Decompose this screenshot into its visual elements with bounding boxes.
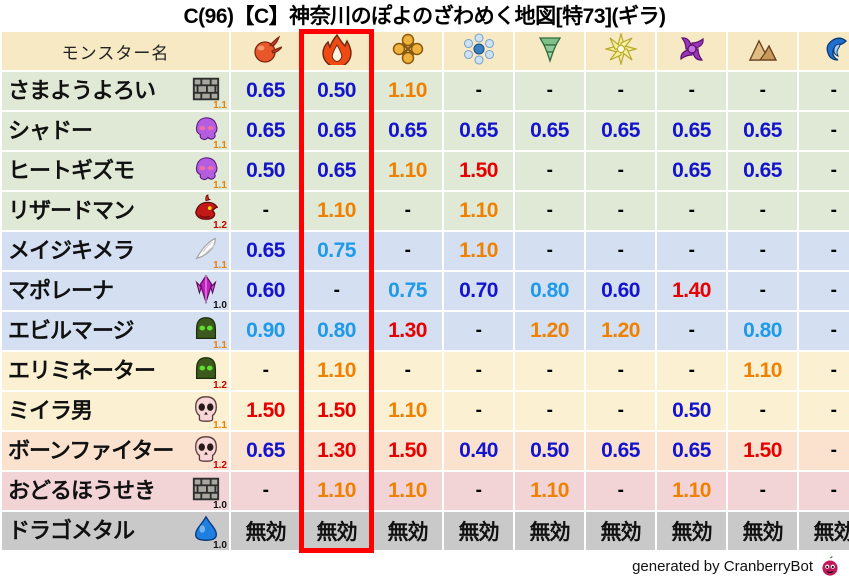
resistance-cell: - — [586, 72, 655, 110]
resistance-cell: - — [444, 312, 513, 350]
monster-name-cell[interactable]: さまようよろい1.1 — [2, 72, 229, 110]
resistance-cell: - — [444, 352, 513, 390]
skull-icon: 1.2 — [191, 434, 225, 468]
mountain-icon — [747, 33, 779, 65]
skull-icon: 1.1 — [191, 394, 225, 428]
resistance-cell: 1.10 — [373, 472, 442, 510]
monster-name-cell[interactable]: メイジキメラ1.1 — [2, 232, 229, 270]
monster-resistance-table: モンスター名 さまようよろい1.10.650.501.10------シャドー1… — [0, 30, 849, 552]
monster-name-cell[interactable]: マポレーナ1.0 — [2, 272, 229, 310]
monster-name-cell[interactable]: エリミネーター1.2 — [2, 352, 229, 390]
table-row: エビルマージ1.10.900.801.30-1.201.20-0.80- — [2, 312, 849, 350]
resistance-cell: - — [231, 192, 300, 230]
resistance-cell: 0.50 — [231, 152, 300, 190]
resistance-cell: 1.10 — [302, 192, 371, 230]
resistance-cell: - — [799, 472, 849, 510]
footer: generated by CranberryBot — [632, 555, 841, 577]
table-row: ドラゴメタル1.0無効無効無効無効無効無効無効無効無効 — [2, 512, 849, 550]
header-element-gira[interactable] — [302, 32, 371, 70]
resistance-cell: 0.65 — [231, 232, 300, 270]
green-hood-icon: 1.2 — [191, 354, 225, 388]
monster-name: マポレーナ — [8, 280, 113, 302]
resistance-cell: 0.75 — [302, 232, 371, 270]
resistance-cell: - — [515, 72, 584, 110]
snowflake-icon — [463, 33, 495, 65]
header-element-mahotora[interactable] — [799, 32, 849, 70]
resistance-cell: 1.10 — [373, 72, 442, 110]
resistance-cell: 無効 — [515, 512, 584, 550]
resistance-cell: - — [515, 152, 584, 190]
red-dragon-icon: 1.2 — [191, 194, 225, 228]
table-body: さまようよろい1.10.650.501.10------シャドー1.10.650… — [2, 72, 849, 550]
resistance-cell: - — [586, 232, 655, 270]
resistance-cell: - — [586, 192, 655, 230]
resistance-cell: 0.80 — [728, 312, 797, 350]
resistance-cell: - — [799, 112, 849, 150]
resistance-cell: - — [586, 152, 655, 190]
resistance-cell: - — [799, 72, 849, 110]
resistance-cell: 無効 — [302, 512, 371, 550]
purple-ghost-icon: 1.1 — [191, 154, 225, 188]
table-row: リザードマン1.2-1.10-1.10----- — [2, 192, 849, 230]
fireball-icon — [250, 33, 282, 65]
monster-version-label: 1.2 — [213, 381, 227, 391]
resistance-cell: 1.10 — [657, 472, 726, 510]
resistance-cell: 0.65 — [373, 112, 442, 150]
monster-name-cell[interactable]: ヒートギズモ1.1 — [2, 152, 229, 190]
green-hood-icon: 1.1 — [191, 314, 225, 348]
resistance-cell: 0.65 — [586, 432, 655, 470]
resistance-cell: 0.50 — [302, 72, 371, 110]
resistance-cell: - — [799, 432, 849, 470]
table-row: おどるほうせき1.0-1.101.10-1.10-1.10-- — [2, 472, 849, 510]
resistance-cell: 1.20 — [586, 312, 655, 350]
resistance-cell: 無効 — [586, 512, 655, 550]
resistance-cell: 1.50 — [302, 392, 371, 430]
monster-name: シャドー — [8, 120, 92, 142]
resistance-cell: - — [373, 192, 442, 230]
resistance-cell: 無効 — [444, 512, 513, 550]
resistance-cell: - — [657, 192, 726, 230]
monster-name: ミイラ男 — [8, 400, 92, 422]
resistance-cell: 0.50 — [515, 432, 584, 470]
monster-version-label: 1.2 — [213, 461, 227, 471]
resistance-cell: 0.65 — [231, 72, 300, 110]
resistance-cell: 1.10 — [373, 392, 442, 430]
resistance-cell: 1.10 — [444, 192, 513, 230]
header-element-jibaria[interactable] — [728, 32, 797, 70]
wave-icon — [818, 33, 849, 65]
resistance-cell: 無効 — [373, 512, 442, 550]
monster-name-cell[interactable]: シャドー1.1 — [2, 112, 229, 150]
monster-version-label: 1.1 — [213, 421, 227, 431]
monster-name: ドラゴメタル — [8, 520, 134, 542]
blue-slime-icon: 1.0 — [191, 514, 225, 548]
resistance-cell: 0.50 — [657, 392, 726, 430]
tornado-icon — [534, 33, 566, 65]
resistance-cell: - — [728, 232, 797, 270]
resistance-cell: 1.10 — [302, 352, 371, 390]
resistance-cell: - — [728, 72, 797, 110]
resistance-cell: - — [799, 232, 849, 270]
resistance-cell: 1.50 — [231, 392, 300, 430]
resistance-cell: 1.10 — [302, 472, 371, 510]
resistance-cell: - — [799, 392, 849, 430]
table-row: ミイラ男1.11.501.501.10---0.50-- — [2, 392, 849, 430]
monster-version-label: 1.1 — [213, 101, 227, 111]
white-wing-icon: 1.1 — [191, 234, 225, 268]
resistance-cell: 1.30 — [373, 312, 442, 350]
starburst-icon — [605, 33, 637, 65]
resistance-cell: - — [373, 232, 442, 270]
resistance-cell: - — [799, 312, 849, 350]
resistance-cell: 0.40 — [444, 432, 513, 470]
monster-version-label: 1.0 — [213, 301, 227, 311]
monster-name: おどるほうせき — [8, 480, 155, 502]
resistance-cell: - — [586, 472, 655, 510]
monster-version-label: 1.1 — [213, 341, 227, 351]
monster-name: ヒートギズモ — [8, 160, 134, 182]
monster-name: さまようよろい — [8, 80, 155, 102]
resistance-cell: 1.10 — [728, 352, 797, 390]
header-element-hyado[interactable] — [444, 32, 513, 70]
header-element-mera[interactable] — [231, 32, 300, 70]
monster-name-cell[interactable]: ドラゴメタル1.0 — [2, 512, 229, 550]
resistance-cell: 0.60 — [231, 272, 300, 310]
explosion-icon — [392, 33, 424, 65]
monster-name: ボーンファイター — [8, 440, 173, 462]
header-element-dein[interactable] — [586, 32, 655, 70]
resistance-cell: 0.65 — [444, 112, 513, 150]
resistance-cell: 0.65 — [231, 112, 300, 150]
monster-version-label: 1.1 — [213, 261, 227, 271]
resistance-cell: - — [799, 352, 849, 390]
resistance-cell: 0.65 — [728, 152, 797, 190]
resistance-cell: 1.10 — [444, 232, 513, 270]
resistance-cell: - — [728, 272, 797, 310]
resistance-cell: - — [799, 272, 849, 310]
resistance-cell: - — [728, 392, 797, 430]
table-header-row: モンスター名 — [2, 32, 849, 70]
page-root: C(96)【C】神奈川のぽよのざわめく地図[特73](ギラ) モンスター名 さま… — [0, 0, 849, 583]
resistance-cell: - — [302, 272, 371, 310]
resistance-cell: 1.10 — [515, 472, 584, 510]
flame-icon — [321, 33, 353, 65]
monster-version-label: 1.1 — [213, 181, 227, 191]
monster-name: リザードマン — [8, 200, 134, 222]
magenta-crystal-icon: 1.0 — [191, 274, 225, 308]
resistance-cell: - — [657, 352, 726, 390]
table-row: ヒートギズモ1.10.500.651.101.50--0.650.65- — [2, 152, 849, 190]
monster-name-cell[interactable]: ミイラ男1.1 — [2, 392, 229, 430]
resistance-cell: 1.50 — [373, 432, 442, 470]
monster-name-cell[interactable]: おどるほうせき1.0 — [2, 472, 229, 510]
monster-version-label: 1.2 — [213, 221, 227, 231]
header-element-io[interactable] — [373, 32, 442, 70]
monster-name: エビルマージ — [8, 320, 134, 342]
table-row: さまようよろい1.10.650.501.10------ — [2, 72, 849, 110]
resistance-cell: - — [444, 72, 513, 110]
resistance-cell: - — [799, 152, 849, 190]
table-row: ボーンファイター1.20.651.301.500.400.500.650.651… — [2, 432, 849, 470]
resistance-cell: 無効 — [728, 512, 797, 550]
resistance-cell: 0.65 — [728, 112, 797, 150]
resistance-cell: - — [444, 392, 513, 430]
monster-version-label: 1.0 — [213, 541, 227, 551]
resistance-cell: 1.30 — [302, 432, 371, 470]
resistance-cell: 1.50 — [444, 152, 513, 190]
table-row: メイジキメラ1.10.650.75-1.10----- — [2, 232, 849, 270]
page-title: C(96)【C】神奈川のぽよのざわめく地図[特73](ギラ) — [0, 0, 849, 30]
resistance-cell: 無効 — [657, 512, 726, 550]
resistance-cell: 無効 — [799, 512, 849, 550]
resistance-cell: 0.70 — [444, 272, 513, 310]
resistance-cell: - — [515, 352, 584, 390]
table-row: シャドー1.10.650.650.650.650.650.650.650.65- — [2, 112, 849, 150]
resistance-cell: - — [515, 392, 584, 430]
brick-wall-icon: 1.0 — [191, 474, 225, 508]
purple-ghost-icon: 1.1 — [191, 114, 225, 148]
resistance-cell: 0.60 — [586, 272, 655, 310]
resistance-cell: 0.65 — [657, 432, 726, 470]
monster-version-label: 1.1 — [213, 141, 227, 151]
resistance-cell: - — [728, 472, 797, 510]
footer-text: generated by CranberryBot — [632, 558, 813, 575]
resistance-cell: 0.65 — [302, 152, 371, 190]
monster-name-cell[interactable]: リザードマン1.2 — [2, 192, 229, 230]
brick-wall-icon: 1.1 — [191, 74, 225, 108]
resistance-cell: - — [444, 472, 513, 510]
resistance-cell: - — [728, 192, 797, 230]
resistance-cell: 0.65 — [657, 152, 726, 190]
resistance-cell: - — [657, 232, 726, 270]
table-row: エリミネーター1.2-1.10-----1.10- — [2, 352, 849, 390]
cranberry-bot-icon — [819, 555, 841, 577]
dark-swirl-icon — [676, 33, 708, 65]
resistance-cell: - — [231, 352, 300, 390]
monster-name-cell[interactable]: エビルマージ1.1 — [2, 312, 229, 350]
header-monster-name: モンスター名 — [2, 32, 229, 70]
monster-version-label: 1.0 — [213, 501, 227, 511]
resistance-cell: - — [657, 312, 726, 350]
resistance-cell: 1.40 — [657, 272, 726, 310]
resistance-cell: 0.65 — [515, 112, 584, 150]
resistance-cell: 0.65 — [586, 112, 655, 150]
monster-name: エリミネーター — [8, 360, 155, 382]
resistance-cell: - — [657, 72, 726, 110]
resistance-cell: 0.90 — [231, 312, 300, 350]
resistance-cell: - — [515, 192, 584, 230]
resistance-cell: 0.65 — [657, 112, 726, 150]
header-element-bagi[interactable] — [515, 32, 584, 70]
header-element-doruma[interactable] — [657, 32, 726, 70]
resistance-cell: 0.80 — [515, 272, 584, 310]
resistance-cell: 0.75 — [373, 272, 442, 310]
resistance-cell: 0.80 — [302, 312, 371, 350]
resistance-cell: - — [231, 472, 300, 510]
resistance-cell: - — [373, 352, 442, 390]
monster-name-cell[interactable]: ボーンファイター1.2 — [2, 432, 229, 470]
resistance-cell: - — [515, 232, 584, 270]
resistance-cell: - — [586, 352, 655, 390]
resistance-cell: 1.20 — [515, 312, 584, 350]
monster-name: メイジキメラ — [8, 240, 134, 262]
resistance-cell: 0.65 — [231, 432, 300, 470]
resistance-cell: 無効 — [231, 512, 300, 550]
resistance-cell: 1.50 — [728, 432, 797, 470]
resistance-cell: 1.10 — [373, 152, 442, 190]
resistance-cell: 0.65 — [302, 112, 371, 150]
table-row: マポレーナ1.00.60-0.750.700.800.601.40-- — [2, 272, 849, 310]
resistance-cell: - — [799, 192, 849, 230]
resistance-cell: - — [586, 392, 655, 430]
